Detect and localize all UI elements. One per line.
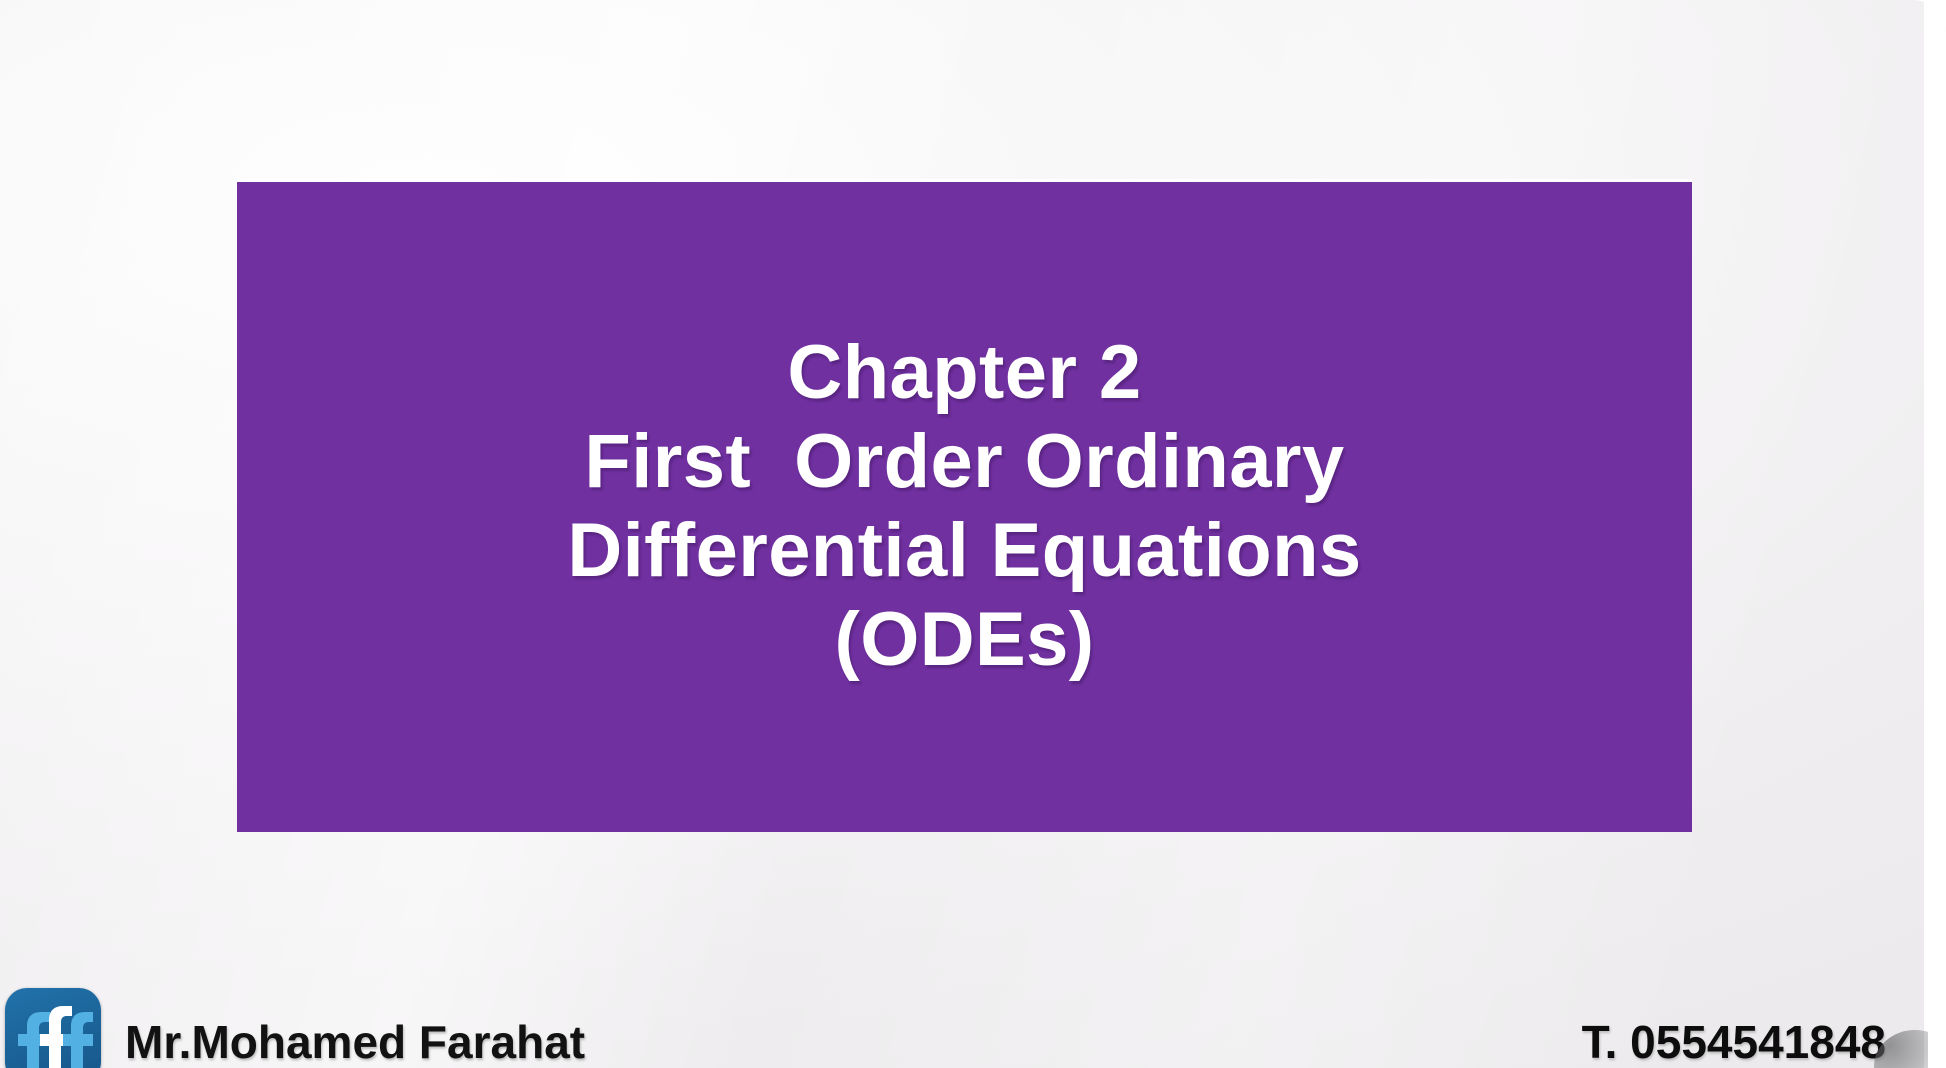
title-line-1: Chapter 2 [787,329,1141,418]
title-line-2: First Order Ordinary [584,418,1344,507]
title-panel: Chapter 2 First Order Ordinary Different… [237,182,1692,832]
presenter-name: Mr.Mohamed Farahat [125,1016,585,1068]
slide-footer: Mr.Mohamed Farahat T. 0554541848 [0,960,1946,1068]
right-page-margin [1924,0,1946,1068]
title-line-4: (ODEs) [835,596,1095,685]
contact-phone: T. 0554541848 [1582,1016,1886,1068]
presentation-slide: Chapter 2 First Order Ordinary Different… [0,0,1946,1068]
fff-logo-icon [5,988,101,1068]
title-line-3: Differential Equations [567,507,1361,596]
